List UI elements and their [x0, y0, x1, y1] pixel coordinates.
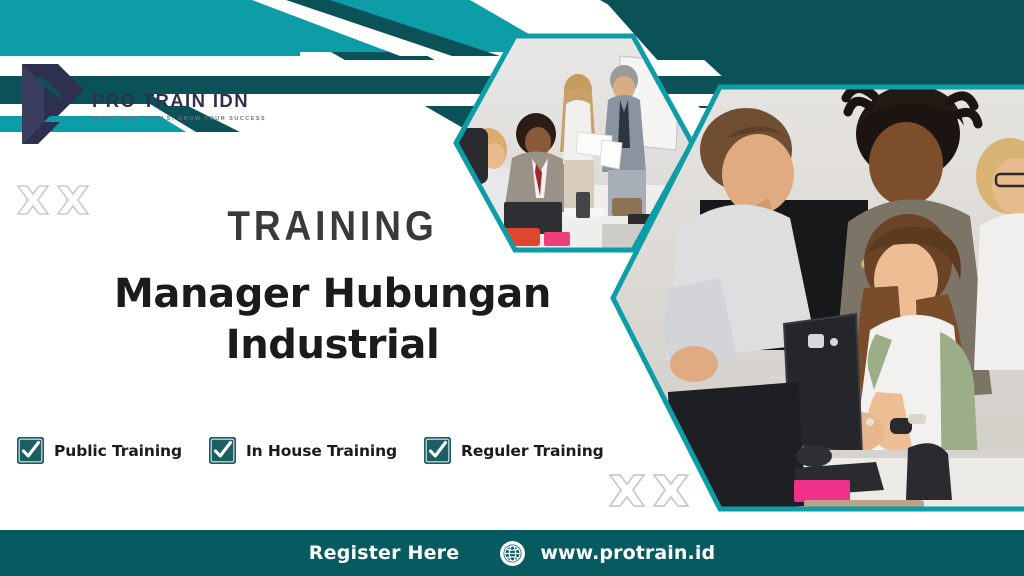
- protrain-arrow-logo-icon: [14, 62, 90, 146]
- brand-logo-text: PRO TRAIN IDN GROW YOUR SKILLS, GROW YOU…: [92, 92, 266, 122]
- training-type-label: Public Training: [54, 442, 182, 460]
- checkbox-checked-icon[interactable]: [208, 436, 237, 465]
- headline-title-line1: Manager Hubungan: [60, 269, 605, 320]
- training-type-public[interactable]: Public Training: [16, 436, 182, 465]
- globe-icon: [499, 540, 526, 567]
- checkbox-checked-icon[interactable]: [423, 436, 452, 465]
- brand-tagline: GROW YOUR SKILLS, GROW YOUR SUCCESS: [92, 116, 266, 122]
- headline-title: Manager Hubungan Industrial: [60, 269, 605, 371]
- website-url: www.protrain.id: [540, 542, 715, 564]
- register-here-label[interactable]: Register Here: [309, 542, 460, 564]
- hex-photo-collaboration: [608, 82, 1024, 514]
- training-types-list: Public Training In House Training Re: [16, 436, 604, 465]
- brand-name: PRO TRAIN IDN: [92, 92, 266, 111]
- training-type-label: Reguler Training: [461, 442, 604, 460]
- website-link[interactable]: www.protrain.id: [499, 540, 715, 567]
- training-type-reguler[interactable]: Reguler Training: [423, 436, 604, 465]
- training-type-label: In House Training: [246, 442, 397, 460]
- training-poster: PRO TRAIN IDN GROW YOUR SKILLS, GROW YOU…: [0, 0, 1024, 576]
- headline-title-line2: Industrial: [60, 320, 605, 371]
- training-type-in-house[interactable]: In House Training: [208, 436, 397, 465]
- footer-bar: Register Here www.protrain.id: [0, 530, 1024, 576]
- brand-logo[interactable]: PRO TRAIN IDN GROW YOUR SKILLS, GROW YOU…: [14, 62, 224, 154]
- checkbox-checked-icon[interactable]: [16, 436, 45, 465]
